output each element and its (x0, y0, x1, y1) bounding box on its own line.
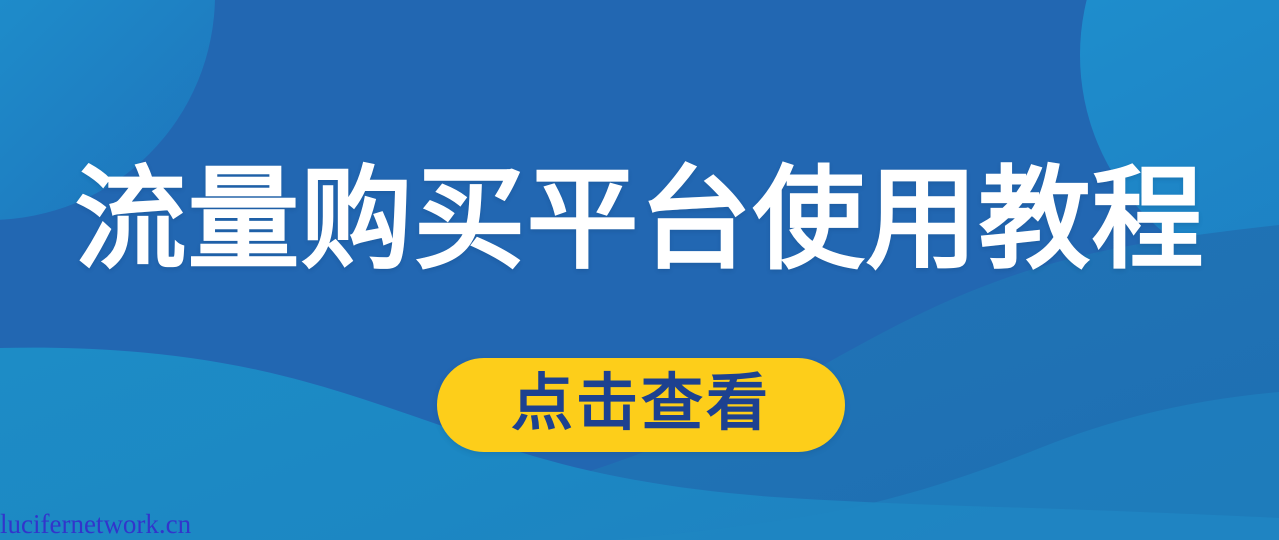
page-title: 流量购买平台使用教程 (0, 158, 1279, 282)
cta-button-label: 点击查看 (511, 370, 771, 436)
watermark-text: lucifernetwork.cn (0, 509, 191, 539)
promo-banner: 流量购买平台使用教程 点击查看 lucifernetwork.cn (0, 0, 1279, 540)
cta-container: 点击查看 (437, 358, 845, 452)
click-to-view-button[interactable]: 点击查看 (437, 358, 845, 452)
